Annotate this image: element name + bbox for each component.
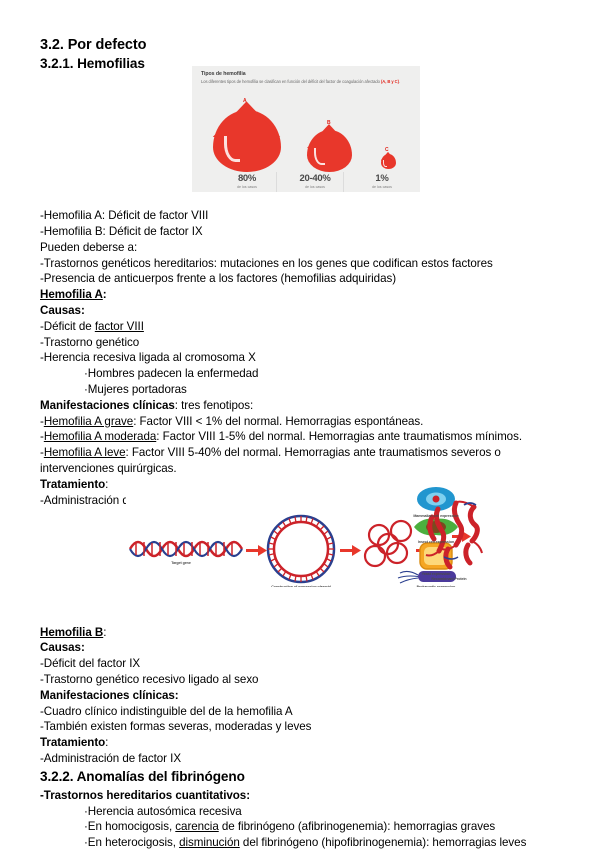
- item-underline: carencia: [175, 820, 218, 833]
- caption-plasmid: Construction of expression plasmid: [244, 585, 358, 587]
- figure-subtitle-line1: Los diferentes tipos de hemofilia se cla…: [201, 79, 300, 84]
- dna-helix-icon: [130, 542, 242, 556]
- percent-value: 1%: [344, 174, 420, 184]
- hemofilia-b-causas-label: Causas:: [40, 640, 560, 656]
- hemofilia-a-causa-1: -Déficit de factor VIII: [40, 319, 560, 335]
- hemofilia-b-tratamiento-item: -Administración de factor IX: [40, 751, 560, 767]
- fenotipo-leve: -Hemofilia A leve: Factor VIII 5-40% del…: [40, 445, 560, 461]
- tratamiento-colon: :: [105, 478, 108, 491]
- item-post: del fibrinógeno (hipofibrinogenemia): he…: [240, 836, 527, 849]
- hemofilia-a-title-colon: :: [103, 288, 107, 301]
- mammalian-cell-icon: [417, 487, 455, 511]
- section-heading-fibrinogeno: 3.2.2. Anomalías del fibrinógeno: [40, 768, 560, 786]
- hemofilia-b-title: Hemofilia B:: [40, 625, 560, 641]
- fenotipo-name: Hemofilia A leve: [44, 446, 126, 459]
- plasmid-icon: [268, 516, 334, 582]
- intro-line-causes-lead: Pueden deberse a:: [40, 240, 560, 256]
- blood-drop-b-icon: [307, 130, 352, 172]
- hemofilia-b-manifestacion-1: -Cuadro clínico indistinguible del de la…: [40, 704, 560, 720]
- figure-column-a: 80% de los casos Factor de coagulación V…: [209, 174, 285, 192]
- figure-subtitle-line2-post: .: [399, 79, 400, 84]
- fenotipo-rest: : Factor VIII < 1% del normal. Hemorragi…: [133, 415, 423, 428]
- figure-title: Tipos de hemofilia: [201, 71, 246, 77]
- caption-insect: Insect cell expression: [389, 540, 483, 544]
- figure-subtitle-types: (A, B y C): [381, 79, 399, 84]
- caption-prokaryotic: Prokaryotic expression: [389, 585, 483, 587]
- fenotipo-name: Hemofilia A moderada: [44, 430, 156, 443]
- tratamiento-colon: :: [105, 736, 108, 749]
- fibrinogeno-item-3: ·En heterocigosis, disminución del fibri…: [40, 835, 560, 851]
- drop-gleam: [224, 136, 240, 162]
- cases-label: de los casos: [277, 185, 353, 190]
- hemofilia-a-subitem-2: ·Mujeres portadoras: [40, 382, 560, 398]
- fenotipo-moderada: -Hemofilia A moderada: Factor VIII 1-5% …: [40, 429, 560, 445]
- hemofilia-a-causas-label: Causas:: [40, 303, 560, 319]
- item-pre: ·En homocigosis,: [84, 820, 175, 833]
- percent-value: 80%: [209, 174, 285, 184]
- hemofilia-b-manifestaciones-label: Manifestaciones clínicas:: [40, 688, 560, 704]
- drop-gleam: [383, 160, 387, 166]
- blood-drop-c-icon: [381, 154, 396, 169]
- hemofilia-a-title-text: Hemofilia A: [40, 288, 103, 301]
- caption-product: Recombinant Protein: [416, 577, 482, 581]
- hemofilia-b-title-text: Hemofilia B: [40, 626, 103, 639]
- fenotipo-rest: : Factor VIII 5-40% del normal. Hemorrag…: [126, 446, 501, 459]
- cases-label: de los casos: [344, 185, 420, 190]
- hemofilia-b-tratamiento-label: Tratamiento:: [40, 735, 560, 751]
- caption-yeast: Yeast expression: [389, 572, 483, 576]
- tratamiento-label: Tratamiento: [40, 736, 105, 749]
- fibrinogeno-item-2: ·En homocigosis, carencia de fibrinógeno…: [40, 819, 560, 835]
- caption-target-gene: Target gene: [146, 561, 216, 565]
- fenotipo-name: Hemofilia A grave: [44, 415, 133, 428]
- factor-label: Factor de coagulación VIII: [209, 191, 285, 192]
- caption-mammalian: Mammalian cell expression: [389, 514, 483, 518]
- drop-gleam: [314, 148, 325, 166]
- item-pre: ·En heterocigosis,: [84, 836, 179, 849]
- figure-subtitle: Los diferentes tipos de hemofilia se cla…: [201, 79, 413, 85]
- cases-label: de los casos: [209, 185, 285, 190]
- arrow-icon: [340, 545, 361, 556]
- document-page: 3.2. Por defecto 3.2.1. Hemofilias Tipos…: [0, 0, 600, 848]
- fibrinogeno-subheading: -Trastornos hereditarios cuantitativos:: [40, 788, 560, 804]
- causa-text-underline: factor VIII: [95, 320, 144, 333]
- fenotipo-grave: -Hemofilia A grave: Factor VIII < 1% del…: [40, 414, 560, 430]
- hemofilia-a-subitem-1: ·Hombres padecen la enfermedad: [40, 366, 560, 382]
- arrow-icon: [246, 545, 267, 556]
- item-post: de fibrinógeno (afibrinogenemia): hemorr…: [219, 820, 495, 833]
- hemofilia-b-manifestacion-2: -También existen formas severas, moderad…: [40, 719, 560, 735]
- hemofilia-b-causa-1: -Déficit del factor IX: [40, 656, 560, 672]
- figure-recombinant-expression: Target gene Construction of expression p…: [126, 487, 484, 587]
- figure-subtitle-line2-pre: del déficit del factor de coagulación af…: [301, 79, 381, 84]
- figure-column-b: 20-40% de los casos Factor de coagulació…: [277, 174, 353, 192]
- manifestaciones-rest: : tres fenotipos:: [175, 399, 253, 412]
- manifestaciones-label: Manifestaciones clínicas: [40, 689, 175, 702]
- causa-text-pre: -Déficit de: [40, 320, 95, 333]
- factor-label: Factor de coagulación XI: [344, 191, 420, 192]
- intro-line-hemofilia-a: -Hemofilia A: Déficit de factor VIII: [40, 208, 560, 224]
- tratamiento-label: Tratamiento: [40, 478, 105, 491]
- hemofilia-a-title: Hemofilia A:: [40, 287, 560, 303]
- hemofilia-a-manifestaciones: Manifestaciones clínicas: tres fenotipos…: [40, 398, 560, 414]
- manifestaciones-label: Manifestaciones clínicas: [40, 399, 175, 412]
- intro-line-genetic: -Trastornos genéticos hereditarios: muta…: [40, 256, 560, 272]
- figure-hemophilia-types: Tipos de hemofilia Los diferentes tipos …: [192, 66, 420, 192]
- hemofilia-a-causa-3: -Herencia recesiva ligada al cromosoma X: [40, 350, 560, 366]
- fenotipo-leve-wrap: intervenciones quirúrgicas.: [40, 461, 560, 477]
- hemofilia-a-causa-2: -Trastorno genético: [40, 335, 560, 351]
- manifestaciones-colon: :: [175, 689, 179, 702]
- percent-value: 20-40%: [277, 174, 353, 184]
- item-underline: disminución: [179, 836, 240, 849]
- hemofilia-b-title-colon: :: [103, 626, 106, 639]
- fenotipo-rest: : Factor VIII 1-5% del normal. Hemorragi…: [156, 430, 522, 443]
- factor-label: Factor de coagulación IX: [277, 191, 353, 192]
- page-title: 3.2. Por defecto: [40, 36, 560, 55]
- blood-drop-a-icon: [213, 110, 281, 172]
- figure-column-c: 1% de los casos Factor de coagulación XI…: [344, 174, 420, 192]
- intro-line-hemofilia-b: -Hemofilia B: Déficit de factor IX: [40, 224, 560, 240]
- hemofilia-b-causa-2: -Trastorno genético recesivo ligado al s…: [40, 672, 560, 688]
- fibrinogeno-item-1: ·Herencia autosómica recesiva: [40, 804, 560, 820]
- intro-line-antibodies: -Presencia de anticuerpos frente a los f…: [40, 271, 560, 287]
